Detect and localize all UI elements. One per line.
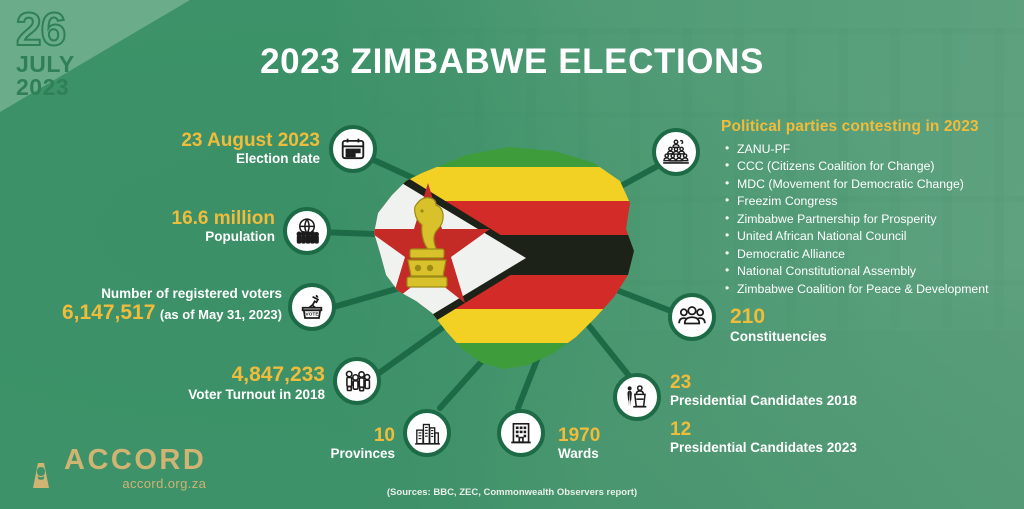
constituencies-value: 210: [730, 305, 827, 329]
stat-registered-voters: Number of registered voters 6,147,517 (a…: [10, 286, 282, 325]
page-title: 2023 ZIMBABWE ELECTIONS: [0, 42, 1024, 82]
registered-voters-label: Number of registered voters: [10, 286, 282, 301]
stat-voter-turnout: 4,847,233 Voter Turnout in 2018: [60, 363, 325, 402]
calendar-icon: [329, 125, 377, 173]
voters-queue-icon: [333, 357, 381, 405]
stat-provinces: 10 Provinces: [240, 425, 395, 461]
pres-2018-value: 23: [670, 372, 857, 393]
infographic-canvas: 26 JULY 2023 2023 ZIMBABWE ELECTIONS: [0, 0, 1024, 509]
list-item: Freezim Congress: [721, 193, 989, 210]
political-parties-heading: Political parties contesting in 2023: [721, 118, 989, 136]
pres-2023-label: Presidential Candidates 2023: [670, 440, 857, 455]
list-item: Zimbabwe Coalition for Peace & Developme…: [721, 281, 989, 298]
provinces-value: 10: [240, 425, 395, 446]
population-globe-icon: [283, 207, 331, 255]
election-date-value: 23 August 2023: [40, 130, 320, 151]
list-item: National Constitutional Assembly: [721, 263, 989, 280]
list-item: MDC (Movement for Democratic Change): [721, 176, 989, 193]
election-date-label: Election date: [40, 151, 320, 166]
accord-logo-name: ACCORD: [64, 446, 206, 475]
political-parties-list: ZANU-PF CCC (Citizens Coalition for Chan…: [721, 141, 989, 298]
stat-constituencies: 210 Constituencies: [730, 305, 827, 344]
cityscape-icon: [403, 409, 451, 457]
pres-2018-label: Presidential Candidates 2018: [670, 393, 857, 408]
registered-voters-value: 6,147,517: [62, 301, 155, 324]
registered-voters-note: (as of May 31, 2023): [160, 307, 282, 322]
stat-population: 16.6 million Population: [20, 208, 275, 244]
population-label: Population: [20, 229, 275, 244]
people-group-icon: [668, 293, 716, 341]
pres-2023-value: 12: [670, 419, 857, 440]
list-item: ZANU-PF: [721, 141, 989, 158]
voter-turnout-label: Voter Turnout in 2018: [60, 387, 325, 402]
stat-presidential-candidates-2023: 12 Presidential Candidates 2023: [670, 419, 857, 455]
zimbabwe-map: [358, 125, 658, 390]
svg-text:VOTE: VOTE: [305, 312, 319, 318]
sources-note: (Sources: BBC, ZEC, Commonwealth Observe…: [0, 487, 1024, 498]
stat-presidential-candidates-2018: 23 Presidential Candidates 2018: [670, 372, 857, 408]
list-item: CCC (Citizens Coalition for Change): [721, 158, 989, 175]
list-item: Democratic Alliance: [721, 246, 989, 263]
voter-turnout-value: 4,847,233: [60, 363, 325, 387]
accord-logo[interactable]: ACCORD accord.org.za: [24, 446, 206, 490]
population-value: 16.6 million: [20, 208, 275, 229]
list-item: Zimbabwe Partnership for Prosperity: [721, 211, 989, 228]
political-parties-panel: Political parties contesting in 2023 ZAN…: [721, 118, 989, 298]
podium-speaker-icon: [613, 373, 661, 421]
accord-logo-mark: [24, 460, 58, 490]
provinces-label: Provinces: [240, 446, 395, 461]
stat-election-date: 23 August 2023 Election date: [40, 130, 320, 166]
ballot-box-icon: VOTE: [288, 283, 336, 331]
parliament-assembly-icon: [652, 128, 700, 176]
constituencies-label: Constituencies: [730, 329, 827, 344]
list-item: United African National Council: [721, 228, 989, 245]
office-building-icon: [497, 409, 545, 457]
